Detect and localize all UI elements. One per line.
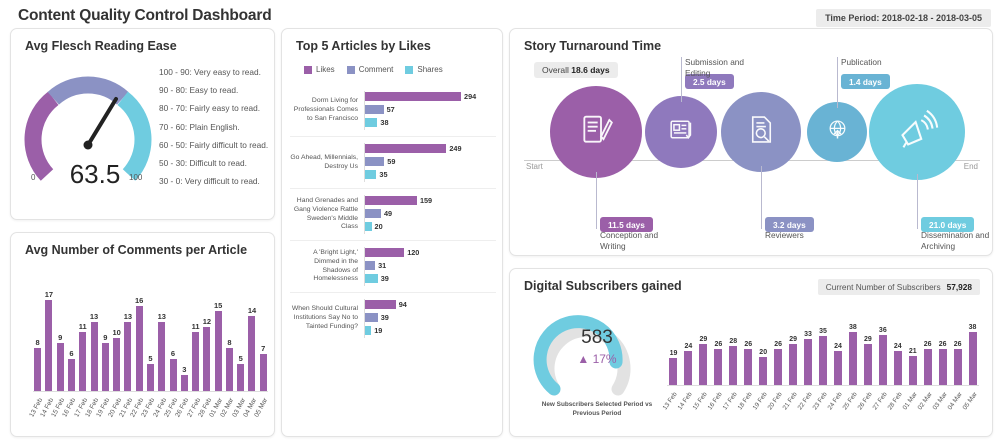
subscribers-bar — [759, 357, 767, 385]
top5-bar — [365, 261, 375, 270]
subscribers-tick: 17 Feb — [727, 389, 740, 429]
card-title-top5: Top 5 Articles by Likes — [296, 39, 431, 53]
top5-article-title: A 'Bright Light,' Dimmed in the Shadows … — [290, 249, 364, 284]
document-pen-icon — [665, 113, 698, 151]
top5-bar-row: 249 — [365, 143, 496, 154]
comments-bar-value: 8 — [227, 338, 231, 347]
comments-bar-value: 17 — [45, 290, 53, 299]
megaphone-icon — [895, 107, 940, 157]
comments-bar-column: 6 — [168, 271, 177, 391]
turnaround-connector — [917, 174, 918, 229]
subscribers-bar-value: 33 — [804, 331, 812, 338]
subscribers-bar-value: 26 — [714, 341, 722, 348]
scale-item: 80 - 70: Fairly easy to read. — [159, 103, 271, 113]
top5-bar-row: 294 — [365, 91, 496, 102]
turnaround-stage-circle[interactable] — [869, 84, 965, 180]
subscribers-bar — [744, 349, 752, 385]
subscribers-tick: 19 Feb — [757, 389, 770, 429]
legend-label: Shares — [417, 65, 442, 74]
comments-bar-value: 9 — [103, 333, 107, 342]
scale-item: 90 - 80: Easy to read. — [159, 85, 271, 95]
top5-row: Hand Grenades and Gang Violence Rattle S… — [290, 188, 496, 240]
subscribers-bar-value: 29 — [789, 336, 797, 343]
subscribers-bar-column: 26 — [712, 313, 725, 385]
subscribers-bar-value: 36 — [879, 327, 887, 334]
subscribers-bar — [864, 344, 872, 385]
flesch-scale-list: 100 - 90: Very easy to read. 90 - 80: Ea… — [159, 67, 271, 194]
top5-bar-row: 59 — [365, 156, 496, 167]
comments-bar — [192, 332, 199, 391]
top5-article-title: Dorm Living for Professionals Comes to S… — [290, 97, 364, 123]
top5-bar — [365, 274, 378, 283]
comments-bar-column: 10 — [112, 271, 121, 391]
comments-bar — [124, 322, 131, 391]
subscribers-bar-value: 24 — [834, 343, 842, 350]
subscribers-bar — [939, 349, 947, 385]
comments-bar-column: 16 — [135, 271, 144, 391]
card-avg-comments-per-article: Avg Number of Comments per Article 81796… — [10, 232, 275, 437]
turnaround-stage-label: Submission and Editing — [685, 57, 761, 79]
comments-bar-value: 14 — [248, 306, 256, 315]
top5-bar-value: 20 — [375, 222, 383, 231]
subscribers-tick: 24 Feb — [831, 389, 844, 429]
top5-bar-row: 120 — [365, 247, 496, 258]
top5-bar-row: 20 — [365, 221, 496, 232]
card-title-subscribers: Digital Subscribers gained — [524, 279, 682, 293]
comments-bar-value: 6 — [171, 349, 175, 358]
legend-swatch-icon — [304, 66, 312, 74]
subscribers-tick: 20 Feb — [772, 389, 785, 429]
subscribers-bar-column: 38 — [966, 313, 979, 385]
comments-bar-value: 13 — [124, 312, 132, 321]
subscribers-bar-value: 20 — [759, 349, 767, 356]
turnaround-stage-circle[interactable] — [807, 102, 867, 162]
subscribers-bar-value: 24 — [894, 343, 902, 350]
comments-bar — [215, 311, 222, 391]
subscribers-bar-column: 24 — [891, 313, 904, 385]
page-title: Content Quality Control Dashboard — [18, 7, 271, 25]
card-top5-articles: Top 5 Articles by Likes LikesCommentShar… — [281, 28, 503, 437]
comments-bar — [113, 338, 120, 391]
scale-item: 100 - 90: Very easy to read. — [159, 67, 271, 77]
comments-bar-column: 5 — [146, 271, 155, 391]
top5-bar — [365, 222, 372, 231]
turnaround-connector — [837, 57, 838, 108]
legend-item[interactable]: Shares — [405, 65, 442, 74]
comments-bar-value: 13 — [90, 312, 98, 321]
legend-swatch-icon — [347, 66, 355, 74]
top5-bar-row: 38 — [365, 117, 496, 128]
top5-bar — [365, 326, 371, 335]
legend-label: Likes — [316, 65, 335, 74]
subscribers-bar-value: 28 — [729, 338, 737, 345]
turnaround-stage-label: Dissemination and Archiving — [921, 230, 997, 252]
subscribers-bar — [894, 351, 902, 385]
current-subscribers-label: Current Number of Subscribers — [826, 282, 941, 292]
comments-bar-column: 17 — [44, 271, 53, 391]
top5-bar — [365, 170, 376, 179]
top5-bar-value: 59 — [387, 157, 395, 166]
comments-bar — [79, 332, 86, 391]
turnaround-stage-circle[interactable] — [645, 96, 717, 168]
subscribers-bar — [714, 349, 722, 385]
subscribers-bar — [879, 335, 887, 385]
subscribers-bar — [954, 349, 962, 385]
top5-bar-value: 159 — [420, 196, 432, 205]
card-title-comments: Avg Number of Comments per Article — [25, 243, 247, 257]
top5-bar-value: 57 — [387, 105, 395, 114]
comments-bar-column: 11 — [191, 271, 200, 391]
turnaround-stage-circle[interactable] — [550, 86, 642, 178]
top5-article-title: Go Ahead, Millennials, Destroy Us — [290, 154, 364, 171]
overall-value: 18.6 days — [571, 65, 609, 75]
subscribers-bar-column: 28 — [727, 313, 740, 385]
top5-article-title: When Should Cultural Institutions Say No… — [290, 305, 364, 331]
subscribers-bar-value: 21 — [909, 348, 917, 355]
overall-prefix: Overall — [542, 65, 571, 75]
top5-row: When Should Cultural Institutions Say No… — [290, 292, 496, 344]
subscribers-bar — [819, 336, 827, 385]
turnaround-connector — [681, 57, 682, 102]
subscribers-bar — [774, 349, 782, 385]
comments-bar-value: 10 — [112, 328, 120, 337]
comments-bar-column: 9 — [56, 271, 65, 391]
top5-bar-value: 120 — [407, 248, 419, 257]
top5-bar-row: 39 — [365, 273, 496, 284]
top5-bar — [365, 105, 384, 114]
comments-bar-column: 13 — [89, 271, 98, 391]
subscribers-bar — [834, 351, 842, 385]
card-digital-subscribers: Digital Subscribers gained Current Numbe… — [509, 268, 993, 437]
top5-bars: 1203139 — [364, 247, 496, 286]
document-magnifier-icon — [744, 112, 779, 152]
comments-bar — [181, 375, 188, 391]
comments-bar — [158, 322, 165, 391]
subscribers-bar — [729, 346, 737, 385]
subscribers-bar — [804, 339, 812, 385]
subscribers-tick: 28 Feb — [891, 389, 904, 429]
subscribers-bar-column: 24 — [831, 313, 844, 385]
comments-bar-column: 7 — [259, 271, 268, 391]
comments-tick: 05 Mar — [259, 395, 268, 435]
legend-label: Comment — [359, 65, 394, 74]
turnaround-stage-label: Reviewers — [765, 230, 841, 241]
overall-turnaround-badge: Overall 18.6 days — [534, 62, 618, 78]
scale-item: 30 - 0: Very difficult to read. — [159, 176, 271, 186]
comments-bar-value: 16 — [135, 296, 143, 305]
subscribers-bar-column: 24 — [682, 313, 695, 385]
comments-bar-column: 5 — [236, 271, 245, 391]
subscribers-bar — [969, 332, 977, 385]
legend-item[interactable]: Comment — [347, 65, 394, 74]
subscribers-bar — [789, 344, 797, 385]
comments-bar-column: 9 — [101, 271, 110, 391]
subscribers-bar-column: 29 — [697, 313, 710, 385]
top5-bar-row: 19 — [365, 325, 496, 336]
subscribers-bar-value: 35 — [819, 328, 827, 335]
top5-list: Dorm Living for Professionals Comes to S… — [290, 85, 496, 344]
gauge-max-label: 100 — [129, 173, 142, 182]
comments-bar — [91, 322, 98, 391]
current-subscribers-value: 57,928 — [947, 282, 972, 292]
subscribers-bar-column: 33 — [802, 313, 815, 385]
top5-bar-value: 294 — [464, 92, 476, 101]
comments-bar — [203, 327, 210, 391]
subscribers-bar-column: 26 — [742, 313, 755, 385]
comments-bar-column: 8 — [225, 271, 234, 391]
top5-bar-value: 249 — [449, 144, 461, 153]
quill-scroll-icon — [576, 110, 616, 155]
top5-bar — [365, 209, 381, 218]
comments-bar-value: 6 — [69, 349, 73, 358]
subscribers-tick: 23 Feb — [817, 389, 830, 429]
subscribers-bar-column: 26 — [951, 313, 964, 385]
top5-bars: 2495935 — [364, 143, 496, 182]
subscribers-tick: 25 Feb — [846, 389, 859, 429]
comments-bar-column: 11 — [78, 271, 87, 391]
timeline-start-label: Start — [526, 162, 543, 171]
flesch-gauge: 63.5 0 100 — [23, 67, 153, 197]
top5-legend: LikesCommentShares — [304, 65, 484, 74]
donut-caption: New Subscribers Selected Period vs Previ… — [534, 401, 660, 418]
globe-upload-icon — [824, 116, 851, 148]
comments-bar-value: 15 — [214, 301, 222, 310]
subscribers-bar — [909, 356, 917, 385]
subscribers-bar — [924, 349, 932, 385]
card-title-turnaround: Story Turnaround Time — [524, 39, 661, 53]
subscribers-tick: 26 Feb — [861, 389, 874, 429]
subscribers-bar-column: 20 — [757, 313, 770, 385]
donut-value: 583 — [547, 327, 647, 349]
top5-row: Go Ahead, Millennials, Destroy Us2495935 — [290, 136, 496, 188]
subscribers-bar-column: 35 — [817, 313, 830, 385]
comments-bar-value: 8 — [36, 338, 40, 347]
subscribers-bar-value: 26 — [939, 341, 947, 348]
scale-item: 60 - 50: Fairly difficult to read. — [159, 140, 271, 150]
subscribers-x-tick-labels: 13 Feb14 Feb15 Feb16 Feb17 Feb18 Feb19 F… — [667, 389, 979, 429]
top5-row: Dorm Living for Professionals Comes to S… — [290, 85, 496, 136]
top5-bar-value: 35 — [379, 170, 387, 179]
comments-bar-chart: 81796111391013165136311121585147 — [33, 271, 268, 391]
top5-row: A 'Bright Light,' Dimmed in the Shadows … — [290, 240, 496, 292]
subscribers-bar-column: 36 — [876, 313, 889, 385]
top5-bar-value: 39 — [381, 274, 389, 283]
top5-bar-row: 39 — [365, 312, 496, 323]
comments-bar — [147, 364, 154, 391]
legend-item[interactable]: Likes — [304, 65, 335, 74]
comments-bar-value: 5 — [239, 354, 243, 363]
comments-bar-value: 11 — [79, 322, 87, 331]
subscribers-tick: 02 Mar — [921, 389, 934, 429]
timeline-end-label: End — [964, 162, 978, 171]
subscribers-tick: 03 Mar — [936, 389, 949, 429]
subscribers-tick: 04 Mar — [951, 389, 964, 429]
subscribers-bar-value: 26 — [954, 341, 962, 348]
subscribers-bar-column: 29 — [787, 313, 800, 385]
comments-bar-column: 12 — [202, 271, 211, 391]
donut-percent-change: ▲ 17% — [547, 352, 647, 366]
top5-bars: 2945738 — [364, 91, 496, 130]
subscribers-bar — [684, 351, 692, 385]
subscribers-bar-column: 19 — [667, 313, 680, 385]
subscribers-tick: 18 Feb — [742, 389, 755, 429]
top5-bar-value: 94 — [399, 300, 407, 309]
top5-bar — [365, 248, 404, 257]
subscribers-bar-value: 26 — [774, 341, 782, 348]
subscribers-bar — [699, 344, 707, 385]
subscribers-bar-value: 38 — [849, 324, 857, 331]
subscribers-bar-column: 26 — [772, 313, 785, 385]
comments-bar-value: 13 — [158, 312, 166, 321]
subscribers-bar-value: 26 — [924, 341, 932, 348]
top5-bar-row: 49 — [365, 208, 496, 219]
subscribers-tick: 01 Mar — [906, 389, 919, 429]
subscribers-bar — [849, 332, 857, 385]
subscribers-bar-column: 26 — [921, 313, 934, 385]
top5-bar — [365, 144, 446, 153]
subscribers-bar-value: 29 — [699, 336, 707, 343]
subscribers-tick: 15 Feb — [697, 389, 710, 429]
turnaround-stage-label: Conception and Writing — [600, 230, 676, 252]
top5-bar-row: 94 — [365, 299, 496, 310]
comments-bar-value: 5 — [148, 354, 152, 363]
comments-bar — [260, 354, 267, 391]
comments-bar-column: 13 — [123, 271, 132, 391]
new-subscribers-donut: 583 ▲ 17% New Subscribers Selected Perio… — [532, 305, 662, 405]
subscribers-tick: 21 Feb — [787, 389, 800, 429]
subscribers-tick: 16 Feb — [712, 389, 725, 429]
top5-bar-row: 57 — [365, 104, 496, 115]
legend-swatch-icon — [405, 66, 413, 74]
top5-bar-value: 39 — [381, 313, 389, 322]
subscribers-bar-value: 29 — [864, 336, 872, 343]
top5-bar-value: 49 — [384, 209, 392, 218]
subscribers-bar-value: 24 — [685, 343, 693, 350]
comments-bar — [57, 343, 64, 391]
comments-bar-column: 13 — [157, 271, 166, 391]
top5-bar-row: 35 — [365, 169, 496, 180]
current-subscribers-badge: Current Number of Subscribers57,928 — [818, 279, 980, 295]
turnaround-stage-circle[interactable] — [721, 92, 801, 172]
scale-item: 70 - 60: Plain English. — [159, 122, 271, 132]
scale-item: 50 - 30: Difficult to read. — [159, 158, 271, 168]
subscribers-tick: 14 Feb — [682, 389, 695, 429]
comments-bar — [136, 306, 143, 391]
comments-bar — [68, 359, 75, 391]
comments-bar — [34, 348, 41, 391]
subscribers-bar-value: 26 — [744, 341, 752, 348]
time-period-badge: Time Period: 2018-02-18 - 2018-03-05 — [816, 9, 991, 27]
top5-bar — [365, 157, 384, 166]
top5-bars: 1594920 — [364, 195, 496, 234]
top5-bar — [365, 313, 378, 322]
comments-bar — [248, 316, 255, 391]
subscribers-bar-column: 38 — [846, 313, 859, 385]
top5-article-title: Hand Grenades and Gang Violence Rattle S… — [290, 197, 364, 232]
comments-bar-value: 9 — [58, 333, 62, 342]
gauge-min-label: 0 — [31, 173, 35, 182]
subscribers-bar — [669, 358, 677, 385]
comments-bar-value: 7 — [261, 344, 265, 353]
comments-bar-value: 11 — [192, 322, 200, 331]
subscribers-bar-value: 38 — [969, 324, 977, 331]
top5-bar-value: 31 — [378, 261, 386, 270]
subscribers-bar-column: 21 — [906, 313, 919, 385]
turnaround-stage-label: Publication — [841, 57, 917, 68]
card-title-flesch: Avg Flesch Reading Ease — [25, 39, 177, 53]
comments-bar-value: 12 — [203, 317, 211, 326]
subscribers-tick: 22 Feb — [802, 389, 815, 429]
top5-bars: 943919 — [364, 299, 496, 338]
comments-bar-column: 3 — [180, 271, 189, 391]
comments-bar — [45, 300, 52, 391]
top5-bar-row: 31 — [365, 260, 496, 271]
card-avg-flesch-reading-ease: Avg Flesch Reading Ease 63.5 0 100 100 -… — [10, 28, 275, 220]
top5-bar-value: 19 — [374, 326, 382, 335]
comments-bar-column: 14 — [247, 271, 256, 391]
top5-bar-value: 38 — [380, 118, 388, 127]
comments-bar-column: 6 — [67, 271, 76, 391]
turnaround-connector — [596, 172, 597, 229]
comments-bar — [102, 343, 109, 391]
top5-bar — [365, 92, 461, 101]
comments-bar — [226, 348, 233, 391]
subscribers-bar-column: 26 — [936, 313, 949, 385]
subscribers-tick: 05 Mar — [966, 389, 979, 429]
top5-bar — [365, 118, 377, 127]
subscribers-tick: 27 Feb — [876, 389, 889, 429]
top5-bar — [365, 196, 417, 205]
subscribers-tick-label: 13 Feb — [662, 391, 679, 411]
turnaround-days-badge: 1.4 days — [841, 74, 890, 89]
subscribers-bar-value: 19 — [670, 350, 678, 357]
top5-bar-row: 159 — [365, 195, 496, 206]
top5-bar — [365, 300, 396, 309]
comments-bar — [237, 364, 244, 391]
donut-icon — [532, 305, 640, 397]
subscribers-bar-column: 29 — [861, 313, 874, 385]
subscribers-bar-chart: 1924292628262026293335243829362421262626… — [667, 313, 979, 385]
comments-bar — [170, 359, 177, 391]
card-story-turnaround-time: Story Turnaround Time Overall 18.6 days … — [509, 28, 993, 256]
comments-bar-column: 15 — [214, 271, 223, 391]
comments-x-tick-labels: 13 Feb14 Feb15 Feb16 Feb17 Feb18 Feb19 F… — [33, 395, 268, 435]
subscribers-tick: 13 Feb — [667, 389, 680, 429]
comments-bar-value: 3 — [182, 365, 186, 374]
comments-bar-column: 8 — [33, 271, 42, 391]
turnaround-connector — [761, 166, 762, 229]
